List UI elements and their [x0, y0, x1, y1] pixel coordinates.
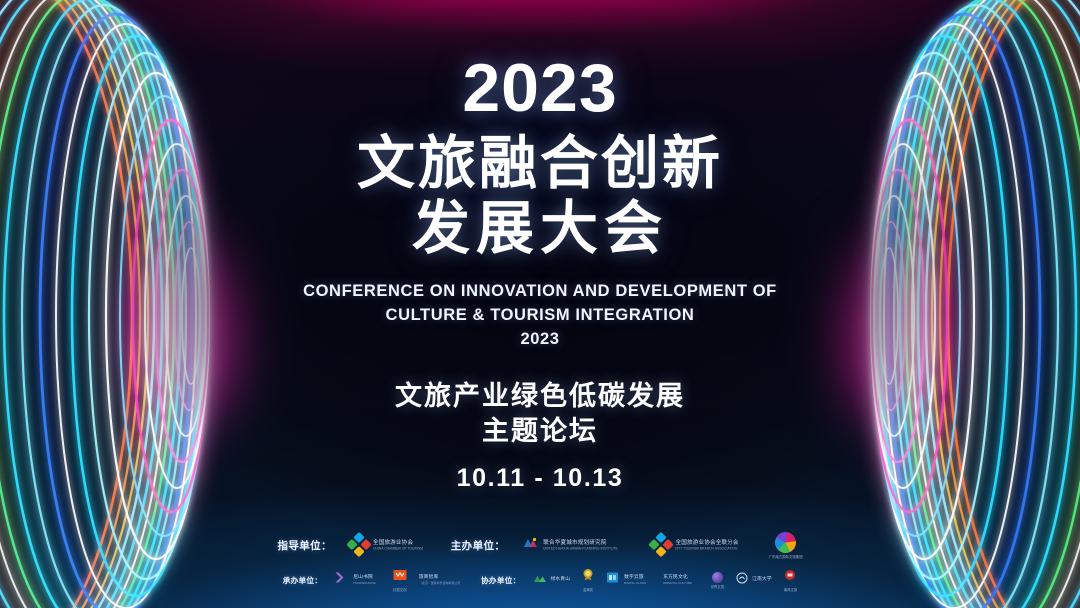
- sponsor-logo-jiangnan-university: 江南大学: [736, 571, 772, 589]
- sponsor-logo-world-culture-tourism: 世界文旅: [711, 572, 725, 589]
- event-dates: 10.11 - 10.13: [457, 464, 624, 493]
- sponsor-logo-china-chamber-tourism: 全国旅游业协会 CHINA CHAMBER OF TOURISM: [349, 536, 434, 556]
- sponsor-name-en: UNITED HUAXIA URBAN PLANNING INSTITUTE: [543, 547, 618, 551]
- sponsor-logo-city-tourism-branch: 全国旅游业协会全联分会 CITY TOURISM BRANCH ASSOCIAT…: [651, 536, 751, 556]
- medal-logo-icon: [582, 568, 594, 586]
- sponsor-logo-southern-cultural-group: 广东南方国际文旅集团: [769, 532, 803, 559]
- sponsor-logo-lvshang-think-tank: 旅商智库 （北京）国际商务咨询有限公司: [419, 575, 469, 585]
- sponsor-logo-golden-lion-award: 金狮奖: [582, 568, 594, 592]
- forum-subtitle: 文旅产业绿色低碳发展 主题论坛: [395, 379, 685, 450]
- sponsor-name-cn: 绿水青山: [551, 577, 571, 583]
- cube-logo-icon: [606, 571, 620, 589]
- sponsor-logo-oriental-culture: 东方民文化 ORIENTAL CULTURE: [663, 575, 698, 585]
- sponsor-logo-huaxia-institute: 联合华夏城市规划研究院 UNITED HUAXIA URBAN PLANNING…: [522, 536, 634, 556]
- title-chinese-line1: 文旅融合创新: [357, 131, 723, 196]
- title-english-line1: CONFERENCE ON INNOVATION AND DEVELOPMENT…: [303, 280, 777, 304]
- sponsor-name-cn: 全国旅游业协会全联分会: [675, 540, 751, 547]
- globe-logo-icon: [712, 572, 723, 583]
- sponsor-name-cn: 广东南方国际文旅集团: [769, 554, 803, 559]
- sponsor-name-cn: 江南大学: [752, 577, 772, 583]
- sponsor-row-secondary: 承办单位： 尼山书院 TOURISM ZONE: [283, 568, 798, 592]
- circle-logo-icon: [736, 571, 748, 589]
- forum-line2: 主题论坛: [395, 414, 685, 450]
- diamond-logo-icon: [345, 531, 373, 559]
- sponsor-name-cn: 东方民文化: [663, 575, 698, 581]
- sponsor-logo-digital-cloud-tourism: 数字云旅 DIGITAL CLOUD: [606, 571, 651, 589]
- chevron-logo-icon: [334, 571, 349, 589]
- forum-line1: 文旅产业绿色低碳发展: [395, 381, 685, 411]
- mountain-logo-icon: [533, 571, 547, 589]
- poster-title-chinese: 文旅融合创新 发展大会: [357, 132, 723, 262]
- sponsor-row-primary: 指导单位： 全国旅游业协会 CHINA CHAMBER OF TOURISM 主…: [277, 532, 802, 559]
- sponsor-logo-red-fox: 红狐文创: [393, 568, 407, 592]
- sponsor-logo-nishan-academy: 尼山书院 TOURISM ZONE: [334, 571, 381, 589]
- fox-logo-icon: [393, 568, 407, 586]
- sponsor-name-cn: 世界文旅: [711, 584, 725, 589]
- host-unit-label: 主办单位：: [451, 538, 506, 553]
- sponsor-name-en: （北京）国际商务咨询有限公司: [419, 581, 460, 585]
- sponsor-name-cn: 红狐文创: [393, 587, 407, 592]
- diamond-logo-icon: [647, 531, 675, 559]
- seal-logo-icon: [784, 568, 796, 586]
- sponsor-name-en: TOURISM ZONE: [353, 581, 376, 585]
- sponsor-name-en: CHINA CHAMBER OF TOURISM: [373, 547, 423, 551]
- sponsor-name-cn: 全国旅游业协会: [373, 540, 434, 547]
- sponsor-logo-green-mountains: 绿水青山: [533, 571, 571, 589]
- institute-logo-icon: [522, 536, 539, 556]
- sponsor-logo-nanfeng-tourism: 南风文旅: [784, 568, 798, 592]
- sponsor-section: 指导单位： 全国旅游业协会 CHINA CHAMBER OF TOURISM 主…: [0, 532, 1080, 592]
- sponsor-name-cn: 尼山书院: [353, 575, 381, 581]
- sponsor-name-cn: 金狮奖: [583, 587, 593, 592]
- title-english-line2: CULTURE & TOURISM INTEGRATION: [303, 304, 777, 328]
- poster-year: 2023: [462, 54, 617, 122]
- sponsor-name-cn: 联合华夏城市规划研究院: [543, 540, 634, 547]
- sponsor-name-cn: 旅商智库: [419, 575, 469, 581]
- poster-content: 2023 文旅融合创新 发展大会 CONFERENCE ON INNOVATIO…: [0, 0, 1080, 608]
- title-english-year: 2023: [520, 330, 559, 349]
- sponsor-name-cn: 南风文旅: [784, 587, 798, 592]
- organizer-unit-label: 承办单位：: [283, 575, 322, 586]
- pinwheel-logo-icon: [775, 532, 796, 553]
- coorganizer-unit-label: 协办单位：: [481, 575, 520, 586]
- poster-title-english: CONFERENCE ON INNOVATION AND DEVELOPMENT…: [303, 280, 777, 328]
- sponsor-name-en: CITY TOURISM BRANCH ASSOCIATION: [675, 547, 737, 551]
- sponsor-name-en: ORIENTAL CULTURE: [663, 581, 692, 585]
- title-chinese-line2: 发展大会: [357, 197, 723, 262]
- guiding-unit-label: 指导单位：: [277, 538, 332, 553]
- sponsor-name-cn: 数字云旅: [624, 575, 651, 581]
- conference-poster: 2023 文旅融合创新 发展大会 CONFERENCE ON INNOVATIO…: [0, 0, 1080, 608]
- sponsor-name-en: DIGITAL CLOUD: [624, 581, 646, 585]
